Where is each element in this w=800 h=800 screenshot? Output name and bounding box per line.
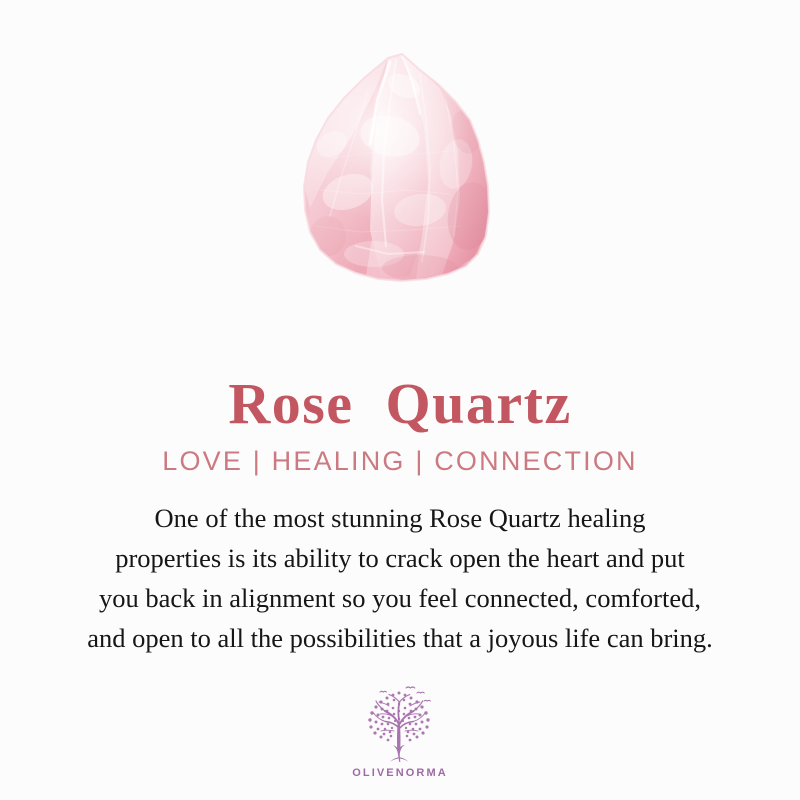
crystal-body (270, 40, 530, 300)
description-line: properties is its ability to crack open … (30, 538, 770, 578)
description-line: and open to all the possibilities that a… (30, 618, 770, 658)
product-card: Rose Quartz LOVE | HEALING | CONNECTION … (0, 0, 800, 800)
brand-name: OLIVENORMA (0, 767, 800, 779)
description-line: One of the most stunning Rose Quartz hea… (30, 498, 770, 538)
tree-of-life-icon (354, 684, 446, 764)
brand-logo: OLIVENORMA (0, 684, 800, 779)
page-title: Rose Quartz (0, 371, 800, 437)
product-description: One of the most stunning Rose Quartz hea… (30, 498, 770, 658)
rose-quartz-crystal-icon (270, 40, 530, 300)
product-keywords: LOVE | HEALING | CONNECTION (0, 444, 800, 478)
description-line: you back in alignment so you feel connec… (30, 578, 770, 618)
hero-image-area (0, 0, 800, 310)
